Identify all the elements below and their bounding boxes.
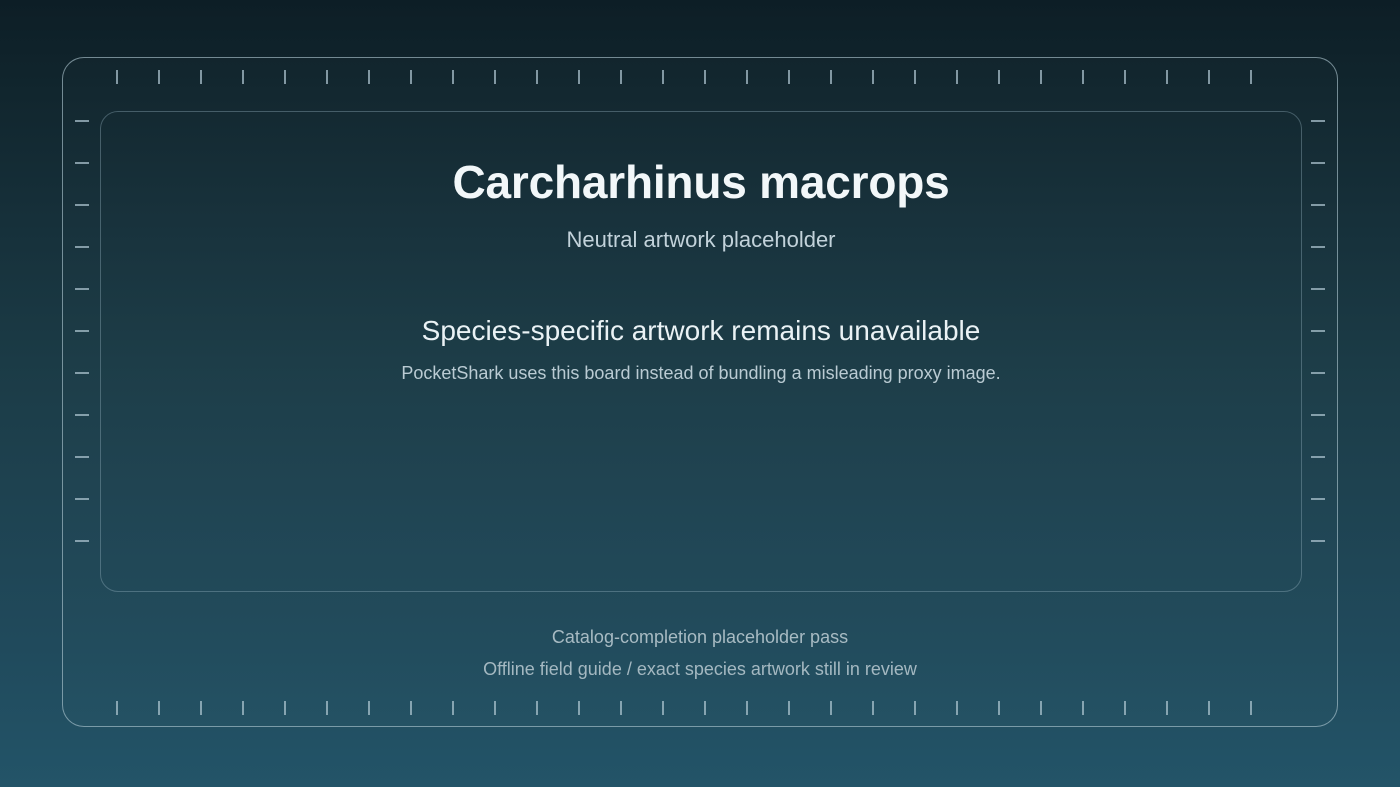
ruler-tick xyxy=(704,70,706,84)
ruler-ticks-left xyxy=(75,58,89,726)
ruler-tick xyxy=(1082,70,1084,84)
ruler-tick xyxy=(1250,70,1252,84)
ruler-tick xyxy=(368,70,370,84)
ruler-ticks-top xyxy=(63,70,1337,84)
ruler-tick xyxy=(746,70,748,84)
ruler-tick xyxy=(1311,246,1325,248)
ruler-tick xyxy=(662,70,664,84)
ruler-tick xyxy=(326,701,328,715)
ruler-tick xyxy=(326,70,328,84)
ruler-tick xyxy=(1208,701,1210,715)
placeholder-subtitle: Neutral artwork placeholder xyxy=(566,227,835,253)
ruler-tick xyxy=(830,70,832,84)
ruler-tick xyxy=(1311,372,1325,374)
ruler-tick xyxy=(368,701,370,715)
species-title: Carcharhinus macrops xyxy=(452,156,949,209)
footer-line-pass: Catalog-completion placeholder pass xyxy=(552,627,848,648)
ruler-tick xyxy=(1311,288,1325,290)
ruler-tick xyxy=(1311,456,1325,458)
ruler-tick xyxy=(75,288,89,290)
ruler-tick xyxy=(410,701,412,715)
ruler-tick xyxy=(1040,701,1042,715)
ruler-tick xyxy=(200,70,202,84)
ruler-tick xyxy=(1311,330,1325,332)
ruler-tick xyxy=(1311,162,1325,164)
ruler-tick xyxy=(1311,498,1325,500)
ruler-tick xyxy=(536,70,538,84)
ruler-tick xyxy=(452,70,454,84)
unavailable-heading: Species-specific artwork remains unavail… xyxy=(422,315,981,347)
board-footer: Catalog-completion placeholder pass Offl… xyxy=(63,627,1337,680)
ruler-tick xyxy=(998,70,1000,84)
ruler-tick xyxy=(494,70,496,84)
ruler-tick xyxy=(410,70,412,84)
ruler-tick xyxy=(914,70,916,84)
ruler-tick xyxy=(1082,701,1084,715)
ruler-tick xyxy=(494,701,496,715)
ruler-tick xyxy=(998,701,1000,715)
ruler-tick xyxy=(75,372,89,374)
ruler-tick xyxy=(1311,414,1325,416)
ruler-tick xyxy=(158,70,160,84)
ruler-tick xyxy=(116,701,118,715)
ruler-tick xyxy=(1311,204,1325,206)
ruler-tick xyxy=(158,701,160,715)
ruler-tick xyxy=(1124,70,1126,84)
ruler-tick xyxy=(536,701,538,715)
ruler-tick xyxy=(242,70,244,84)
ruler-tick xyxy=(284,70,286,84)
ruler-tick xyxy=(1311,120,1325,122)
artwork-placeholder-panel: Carcharhinus macrops Neutral artwork pla… xyxy=(100,111,1302,592)
ruler-tick xyxy=(116,70,118,84)
ruler-tick xyxy=(1124,701,1126,715)
ruler-tick xyxy=(1208,70,1210,84)
placeholder-board-frame: Carcharhinus macrops Neutral artwork pla… xyxy=(62,57,1338,727)
ruler-tick xyxy=(578,70,580,84)
ruler-tick xyxy=(914,701,916,715)
ruler-tick xyxy=(75,456,89,458)
ruler-tick xyxy=(1166,701,1168,715)
ruler-tick xyxy=(956,701,958,715)
ruler-tick xyxy=(75,540,89,542)
ruler-tick xyxy=(830,701,832,715)
ruler-tick xyxy=(75,162,89,164)
ruler-tick xyxy=(284,701,286,715)
ruler-tick xyxy=(620,701,622,715)
ruler-tick xyxy=(662,701,664,715)
ruler-ticks-right xyxy=(1311,58,1325,726)
ruler-tick xyxy=(1250,701,1252,715)
ruler-tick xyxy=(956,70,958,84)
ruler-tick xyxy=(1166,70,1168,84)
ruler-tick xyxy=(75,120,89,122)
ruler-tick xyxy=(75,246,89,248)
ruler-tick xyxy=(242,701,244,715)
ruler-tick xyxy=(452,701,454,715)
ruler-tick xyxy=(788,70,790,84)
ruler-tick xyxy=(200,701,202,715)
ruler-tick xyxy=(1311,540,1325,542)
ruler-ticks-bottom xyxy=(63,701,1337,715)
ruler-tick xyxy=(1040,70,1042,84)
ruler-tick xyxy=(872,701,874,715)
ruler-tick xyxy=(746,701,748,715)
ruler-tick xyxy=(872,70,874,84)
ruler-tick xyxy=(620,70,622,84)
ruler-tick xyxy=(75,204,89,206)
ruler-tick xyxy=(788,701,790,715)
ruler-tick xyxy=(75,330,89,332)
ruler-tick xyxy=(75,498,89,500)
footer-line-review: Offline field guide / exact species artw… xyxy=(483,659,917,680)
ruler-tick xyxy=(75,414,89,416)
ruler-tick xyxy=(578,701,580,715)
ruler-tick xyxy=(704,701,706,715)
explanation-text: PocketShark uses this board instead of b… xyxy=(401,363,1000,384)
